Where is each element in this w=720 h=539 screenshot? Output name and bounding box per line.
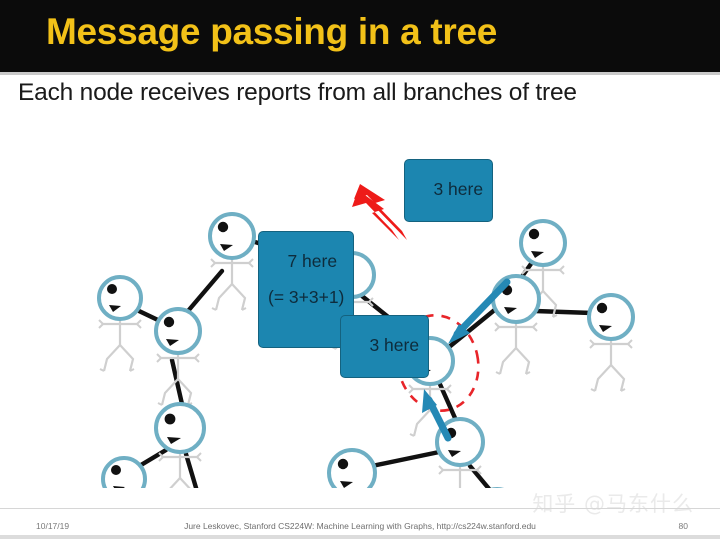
footer-attribution: Jure Leskovec, Stanford CS224W: Machine … [0,521,720,531]
edge-n13-n8 [439,382,455,418]
bottom-bar [0,535,720,539]
edge-n6-n7 [535,311,592,313]
node-n7[interactable] [589,295,633,391]
node-n10[interactable] [103,458,145,488]
node-n2[interactable] [99,277,141,371]
title-divider [0,72,720,75]
callout-top-label: 3 here [433,179,483,199]
callout-bottom-label: 3 here [369,335,419,355]
callout-3-here-top[interactable]: 3 here [404,159,493,222]
footer-page-number: 80 [679,521,688,531]
edge-n2-n3 [139,311,160,321]
edge-n12-n13 [372,451,444,466]
callout-3-here-bottom[interactable]: 3 here [340,315,429,378]
subtitle-text: Each node receives reports from all bran… [18,79,577,107]
slide: Message passing in a tree Each node rece… [0,0,720,539]
edge-n6-n8 [443,308,497,352]
attention-arrow [352,184,407,240]
watermark: 知乎 @马东什么 [532,488,694,518]
tree-diagram-svg [0,108,720,488]
node-n9[interactable] [156,404,204,488]
callout-left-label: 7 here [287,251,337,271]
tree-diagram [0,108,720,488]
footer-divider [0,508,720,509]
page-title: Message passing in a tree [46,11,497,53]
node-n12[interactable] [329,450,375,488]
node-n1[interactable] [210,214,254,310]
callout-left-label-line2: (= 3+3+1) [268,289,344,307]
